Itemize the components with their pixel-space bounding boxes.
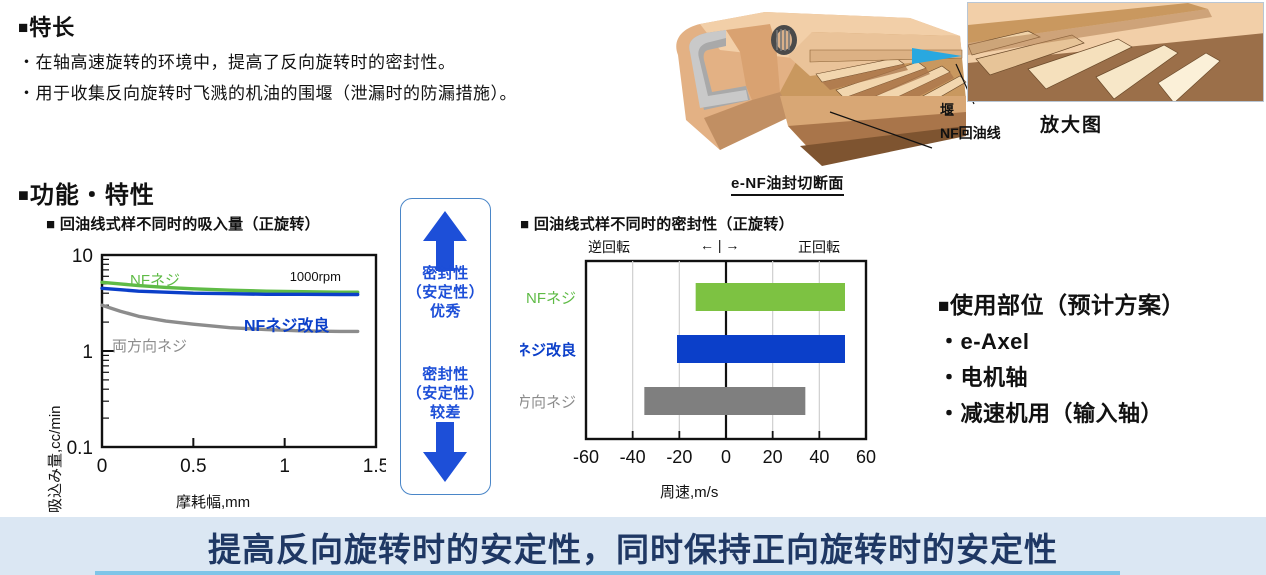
svg-text:40: 40 [809,447,829,467]
line-chart-ylabel: 吸込み量,cc/min [44,405,65,513]
usage-heading-text: 使用部位（预计方案） [950,292,1185,318]
seal-cross-section-illustration [660,0,1000,170]
svg-text:0.5: 0.5 [180,456,206,477]
bar-chart-xlabel: 周速,m/s [660,481,718,502]
svg-text:両方向ネジ: 両方向ネジ [112,338,187,355]
features-bullet-2: ・用于收集反向旋转时飞溅的机油的围堰（泄漏时的防漏措施）。 [18,79,678,104]
line-chart-title-text: ■ 回油线式样不同时的吸入量（正旋转） [46,216,320,233]
features-heading-text: 特长 [29,15,75,40]
arrow-down-icon [423,422,467,482]
svg-text:NFネジ改良: NFネジ改良 [244,316,329,335]
line-chart-plot: 1000rpm 1010.100.511.5NFネジNFネジ改良両方向ネジ 摩耗… [46,239,386,501]
square-bullet-icon: ■ [18,18,29,37]
line-chart-xlabel: 摩耗幅,mm [176,491,250,512]
line-chart: ■ 回油线式样不同时的吸入量（正旋转） 1000rpm 1010.100.511… [46,213,386,503]
square-bullet-icon: ■ [18,185,30,205]
bar-chart-title: ■ 回油线式样不同时的密封性（正旋转） [520,213,920,234]
stability-excellent-line-1: 密封性 [401,264,490,283]
direction-arrows-icon: ← | → [700,237,739,253]
garter-spring-icon [771,25,797,55]
usage-item-1: ・e‐Axel [938,324,1185,356]
magnified-view-image [967,2,1264,102]
svg-text:-60: -60 [573,447,599,467]
svg-text:両方向ネジ: 両方向ネジ [520,394,576,411]
svg-text:0: 0 [97,456,108,477]
banner-underline [95,571,1120,575]
svg-text:1: 1 [82,342,93,363]
stability-excellent-line-3: 优秀 [401,302,490,321]
banner-text: 提高反向旋转时的安定性，同时保持正向旋转时的安定性 [0,523,1266,571]
svg-text:NFネジ: NFネジ [130,272,180,289]
bottom-banner: 提高反向旋转时的安定性，同时保持正向旋转时的安定性 [0,517,1266,575]
usage-item-2: ・电机轴 [938,360,1185,392]
features-bullet-1: ・在轴高速旋转的环境中，提高了反向旋转时的密封性。 [18,48,678,73]
bar-chart: ■ 回油线式样不同时的密封性（正旋转） 逆回転 ← | → 正回転 NFネジNF… [520,213,920,513]
magnified-label: 放大图 [1040,110,1103,137]
oil-line-label: NF回油线 [940,123,1001,143]
stability-arrow-box: 密封性 （安定性） 优秀 密封性 （安定性） 较差 [400,198,491,495]
svg-text:-40: -40 [620,447,646,467]
function-heading-text: 功能・特性 [30,182,155,209]
stability-excellent-text: 密封性 （安定性） 优秀 [401,264,490,321]
features-block: ■特长 ・在轴高速旋转的环境中，提高了反向旋转时的密封性。 ・用于收集反向旋转时… [18,10,678,104]
line-chart-title: ■ 回油线式样不同时的吸入量（正旋转） [46,213,386,234]
usage-heading: ■使用部位（预计方案） [938,286,1185,320]
seal-caption: e-NF油封切断面 [731,172,844,196]
function-heading: ■功能・特性 [18,175,155,210]
line-chart-annotation: 1000rpm [290,269,341,284]
svg-text:0.1: 0.1 [67,438,93,459]
bar-chart-title-text: ■ 回油线式样不同时的密封性（正旋转） [520,216,794,233]
svg-text:10: 10 [72,246,93,267]
svg-text:1: 1 [279,456,290,477]
svg-text:60: 60 [856,447,876,467]
weir-label: 堰 [940,100,954,120]
usage-item-3: ・减速机用（输入轴） [938,396,1185,428]
svg-text:20: 20 [763,447,783,467]
stability-poor-line-2: （安定性） [401,384,490,403]
svg-text:NFネジ: NFネジ [526,290,576,307]
usage-block: ■使用部位（预计方案） ・e‐Axel ・电机轴 ・减速机用（输入轴） [938,286,1185,428]
svg-text:NFネジ改良: NFネジ改良 [520,341,576,359]
svg-text:0: 0 [721,447,731,467]
svg-text:1.5: 1.5 [363,456,386,477]
stability-excellent-line-2: （安定性） [401,283,490,302]
arrow-up-icon [423,211,467,271]
stability-poor-text: 密封性 （安定性） 较差 [401,365,490,422]
svg-text:-20: -20 [666,447,692,467]
stability-poor-line-3: 较差 [401,403,490,422]
stability-poor-line-1: 密封性 [401,365,490,384]
features-heading: ■特长 [18,10,678,42]
square-bullet-icon: ■ [938,296,950,317]
